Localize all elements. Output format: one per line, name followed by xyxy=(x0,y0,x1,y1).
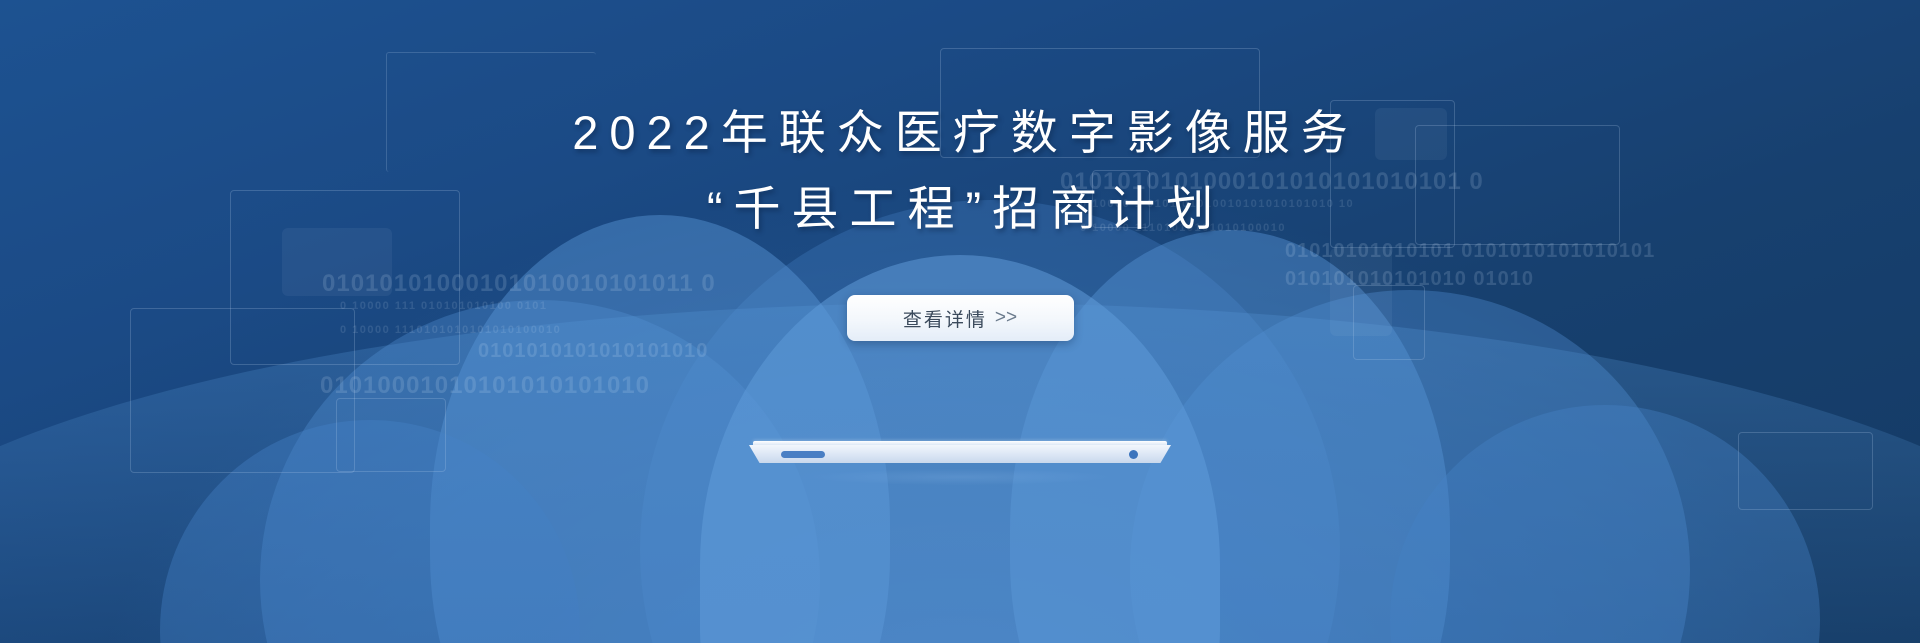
banner-content: 2022年联众医疗数字影像服务 “千县工程”招商计划 查看详情 >> xyxy=(0,0,1920,643)
laptop-notch-icon xyxy=(781,451,825,458)
promo-banner: 01010101000101010010101011 0 0 10000 111… xyxy=(0,0,1920,643)
banner-title-line-1: 2022年联众医疗数字影像服务 xyxy=(561,95,1359,171)
banner-title-line-2: “千县工程”招商计划 xyxy=(561,171,1359,247)
cta-container: 查看详情 >> xyxy=(847,295,1074,341)
laptop-indicator-dot-icon xyxy=(1129,450,1138,459)
laptop-base xyxy=(749,445,1171,463)
laptop-screen-lip xyxy=(753,441,1167,445)
banner-title: 2022年联众医疗数字影像服务 “千县工程”招商计划 xyxy=(561,95,1359,247)
double-chevron-right-icon: >> xyxy=(995,307,1017,329)
laptop-device-illustration xyxy=(749,441,1171,485)
laptop-shadow xyxy=(810,469,1110,485)
view-details-button[interactable]: 查看详情 >> xyxy=(847,295,1074,341)
view-details-label: 查看详情 xyxy=(903,305,987,332)
